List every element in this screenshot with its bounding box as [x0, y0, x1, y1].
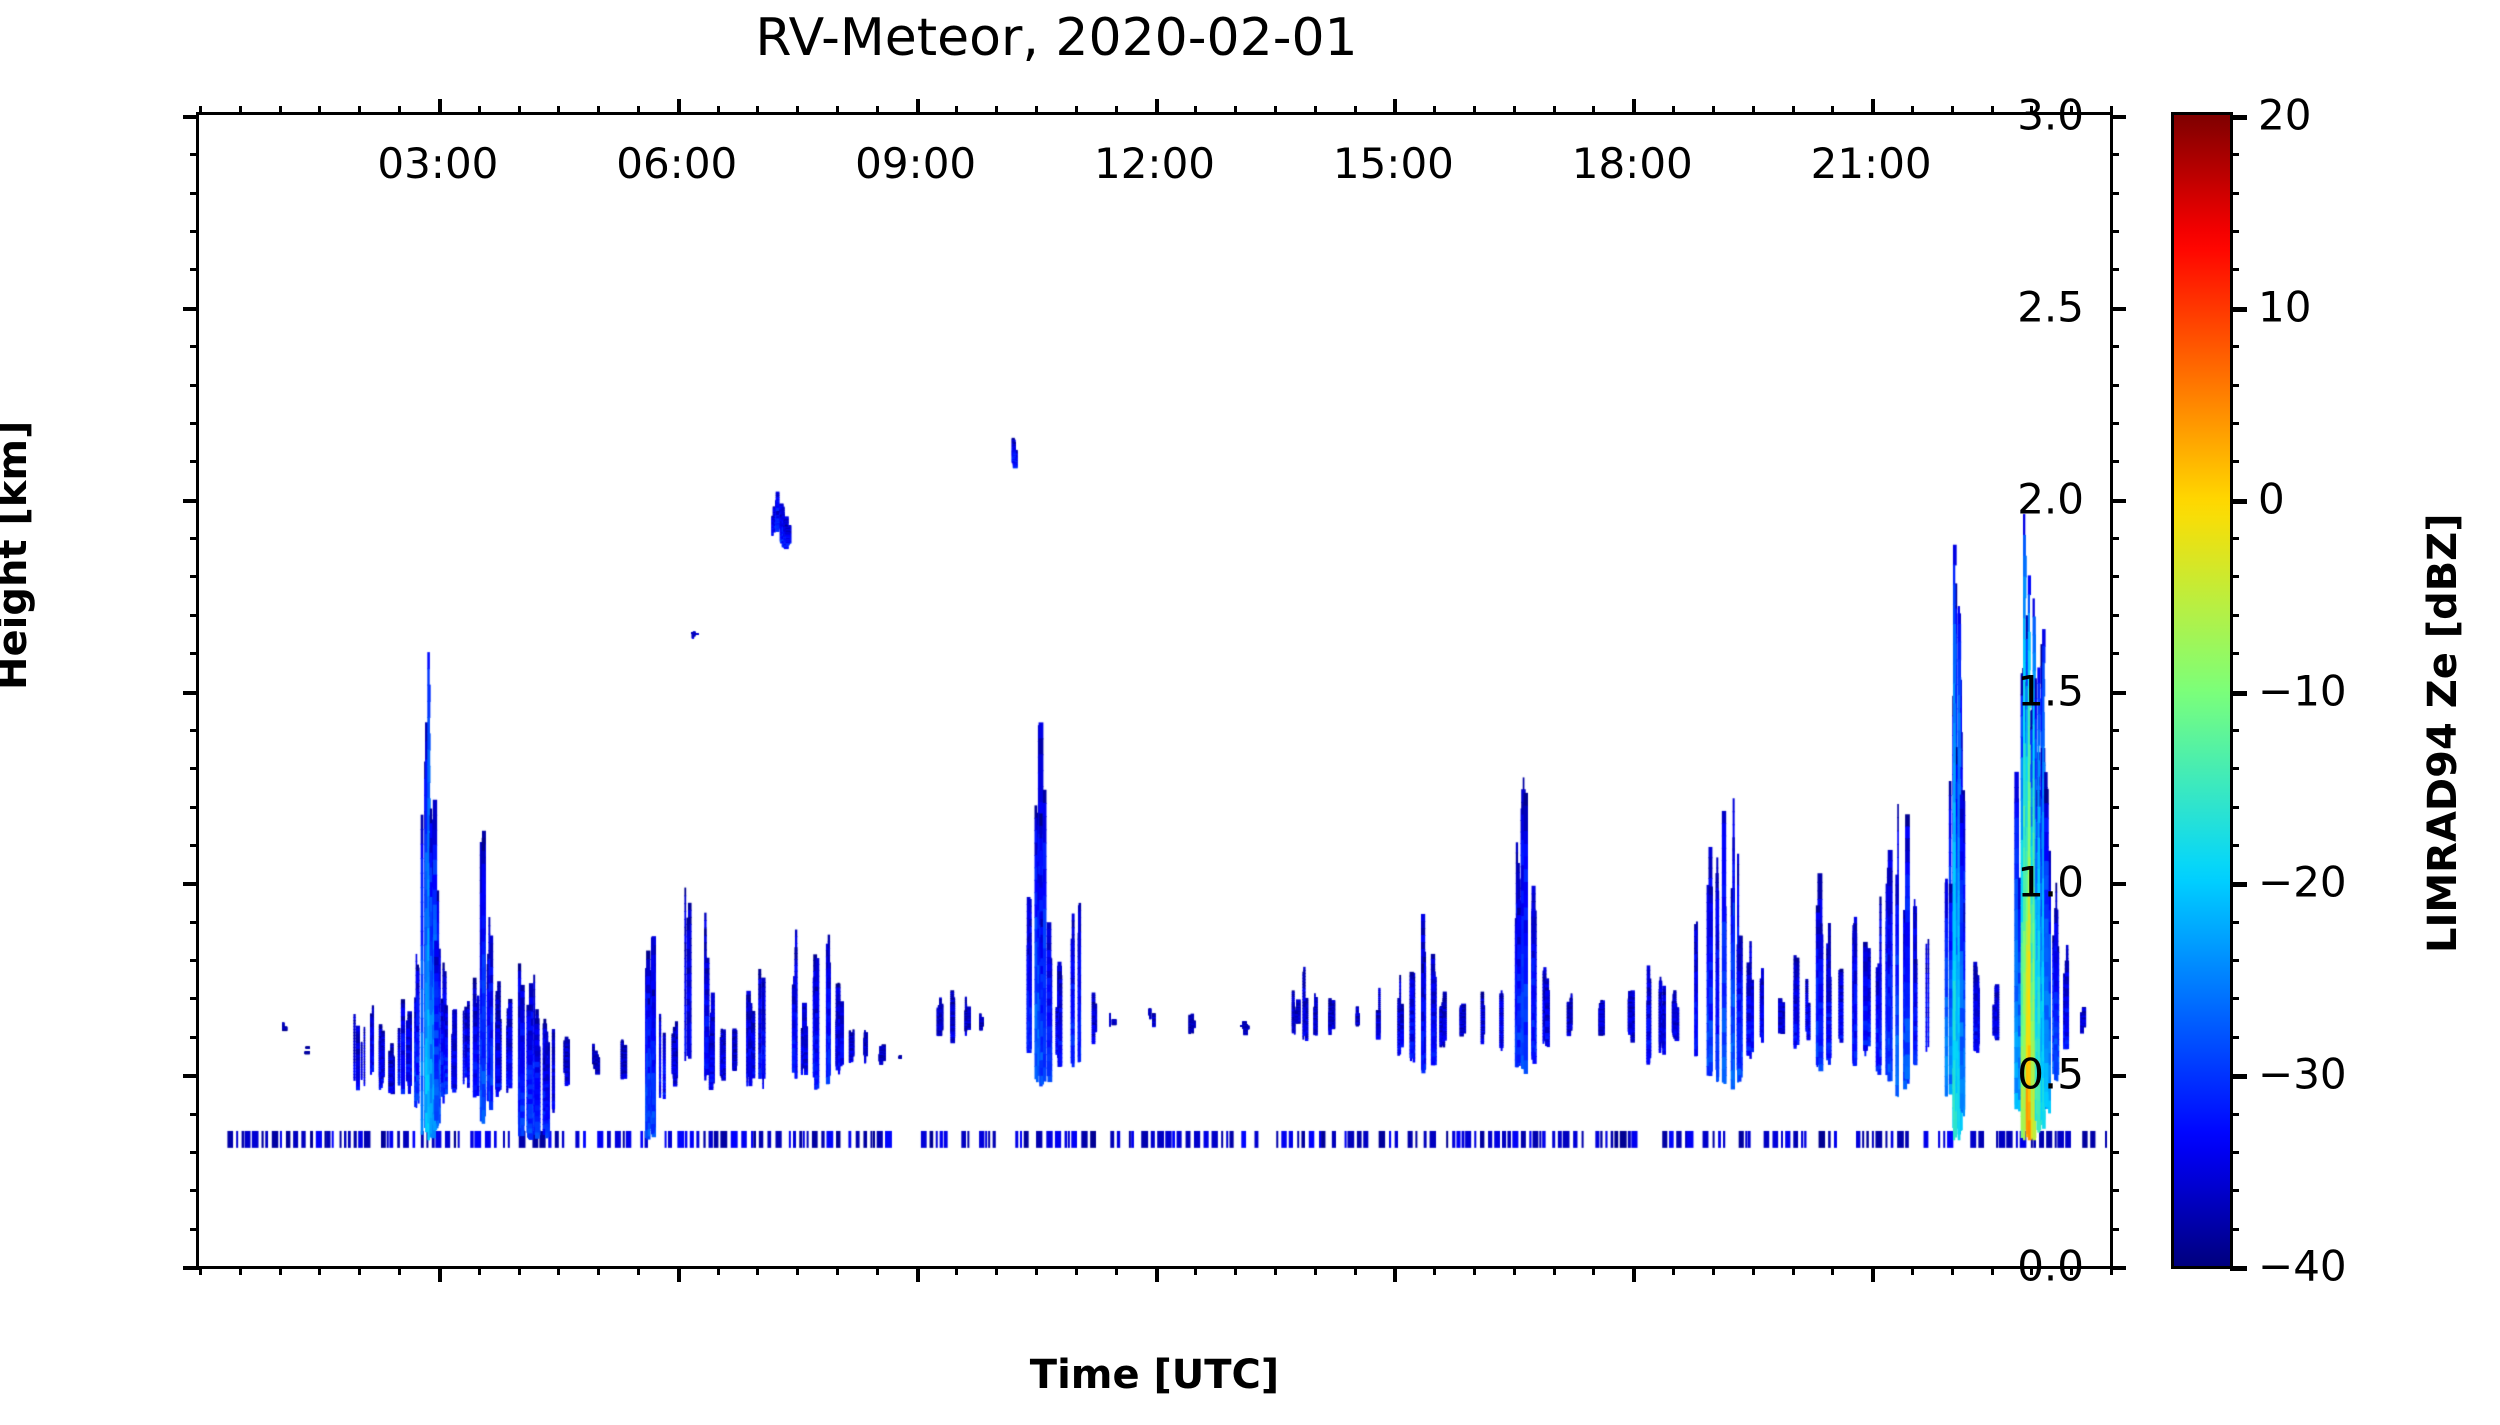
y-minor-tick-right — [2110, 1189, 2119, 1192]
y-minor-tick-right — [2110, 384, 2119, 387]
x-minor-tick — [1752, 1266, 1755, 1275]
x-major-tick-top — [1632, 99, 1636, 115]
x-minor-tick — [717, 1266, 720, 1275]
colorbar-minor-tick — [2230, 1228, 2239, 1231]
y-minor-tick-right — [2110, 614, 2119, 617]
y-minor-tick-right — [2110, 1228, 2119, 1231]
x-minor-tick-top — [557, 106, 560, 115]
reflectivity-heatmap — [199, 115, 2110, 1266]
colorbar-minor-tick — [2230, 192, 2239, 195]
y-major-tick — [183, 882, 199, 886]
colorbar-minor-tick — [2230, 230, 2239, 233]
y-major-tick — [183, 691, 199, 695]
x-major-tick-top — [1871, 99, 1875, 115]
x-minor-tick-top — [1911, 106, 1914, 115]
x-minor-tick-top — [199, 106, 202, 115]
colorbar-major-tick — [2230, 115, 2247, 120]
y-minor-tick-right — [2110, 844, 2119, 847]
colorbar-tick-label: −20 — [2258, 858, 2347, 907]
y-major-tick — [183, 1074, 199, 1078]
y-major-tick — [183, 499, 199, 503]
x-minor-tick-top — [279, 106, 282, 115]
x-tick-label: 06:00 — [616, 139, 737, 188]
colorbar-tick-label: −10 — [2258, 666, 2347, 715]
y-major-tick-right — [2110, 882, 2126, 886]
y-minor-tick — [190, 537, 199, 540]
y-minor-tick-right — [2110, 575, 2119, 578]
x-minor-tick-top — [955, 106, 958, 115]
x-minor-tick-top — [1712, 106, 1715, 115]
colorbar-minor-tick — [2230, 1113, 2239, 1116]
x-minor-tick — [1314, 1266, 1317, 1275]
x-minor-tick-top — [1035, 106, 1038, 115]
x-minor-tick-top — [1792, 106, 1795, 115]
x-minor-tick-top — [637, 106, 640, 115]
plot-axes: 03:0006:0009:0012:0015:0018:0021:000.00.… — [196, 112, 2113, 1269]
colorbar-minor-tick — [2230, 422, 2239, 425]
x-minor-tick — [358, 1266, 361, 1275]
x-minor-tick-top — [518, 106, 521, 115]
y-tick-label: 1.5 — [2017, 666, 2084, 715]
y-major-tick-right — [2110, 691, 2126, 695]
x-minor-tick-top — [1672, 106, 1675, 115]
colorbar-major-tick — [2230, 1266, 2247, 1271]
x-minor-tick-top — [1513, 106, 1516, 115]
x-minor-tick-top — [1314, 106, 1317, 115]
x-minor-tick-top — [1234, 106, 1237, 115]
y-minor-tick-right — [2110, 921, 2119, 924]
y-minor-tick-right — [2110, 153, 2119, 156]
y-major-tick-right — [2110, 307, 2126, 311]
x-minor-tick — [1513, 1266, 1516, 1275]
y-major-tick — [183, 307, 199, 311]
x-major-tick-top — [1393, 99, 1397, 115]
x-major-tick-top — [1155, 99, 1159, 115]
x-tick-label: 21:00 — [1811, 139, 1932, 188]
x-minor-tick-top — [398, 106, 401, 115]
y-minor-tick — [190, 959, 199, 962]
y-minor-tick — [190, 575, 199, 578]
x-minor-tick — [1075, 1266, 1078, 1275]
y-minor-tick-right — [2110, 1113, 2119, 1116]
y-minor-tick-right — [2110, 422, 2119, 425]
y-minor-tick-right — [2110, 345, 2119, 348]
y-minor-tick — [190, 652, 199, 655]
x-minor-tick — [995, 1266, 998, 1275]
colorbar-gradient — [2174, 115, 2230, 1266]
x-major-tick — [1393, 1266, 1397, 1282]
y-minor-tick-right — [2110, 268, 2119, 271]
colorbar-minor-tick — [2230, 614, 2239, 617]
y-minor-tick — [190, 1189, 199, 1192]
y-minor-tick-right — [2110, 806, 2119, 809]
x-minor-tick-top — [1991, 106, 1994, 115]
x-minor-tick-top — [1592, 106, 1595, 115]
colorbar-minor-tick — [2230, 921, 2239, 924]
y-tick-label: 0.5 — [2017, 1050, 2084, 1099]
x-minor-tick — [398, 1266, 401, 1275]
colorbar-minor-tick — [2230, 153, 2239, 156]
y-major-tick — [183, 115, 199, 119]
y-minor-tick — [190, 729, 199, 732]
x-minor-tick — [557, 1266, 560, 1275]
y-minor-tick-right — [2110, 1036, 2119, 1039]
y-major-tick-right — [2110, 1266, 2126, 1270]
colorbar-tick-label: 20 — [2258, 91, 2311, 140]
x-minor-tick-top — [1115, 106, 1118, 115]
x-minor-tick-top — [1354, 106, 1357, 115]
x-tick-label: 12:00 — [1094, 139, 1215, 188]
x-minor-tick — [637, 1266, 640, 1275]
y-minor-tick — [190, 767, 199, 770]
x-minor-tick-top — [1194, 106, 1197, 115]
y-tick-label: 3.0 — [2017, 91, 2084, 140]
y-minor-tick-right — [2110, 729, 2119, 732]
x-major-tick — [916, 1266, 920, 1282]
colorbar-tick-label: −40 — [2258, 1242, 2347, 1291]
y-minor-tick — [190, 384, 199, 387]
y-minor-tick-right — [2110, 1151, 2119, 1154]
colorbar-minor-tick — [2230, 575, 2239, 578]
x-minor-tick-top — [836, 106, 839, 115]
x-minor-tick — [1115, 1266, 1118, 1275]
x-minor-tick-top — [358, 106, 361, 115]
y-minor-tick — [190, 997, 199, 1000]
x-major-tick — [438, 1266, 442, 1282]
x-minor-tick-top — [995, 106, 998, 115]
x-minor-tick-top — [318, 106, 321, 115]
x-minor-tick-top — [756, 106, 759, 115]
y-minor-tick-right — [2110, 230, 2119, 233]
x-major-tick-top — [677, 99, 681, 115]
y-minor-tick — [190, 422, 199, 425]
x-minor-tick-top — [1075, 106, 1078, 115]
colorbar-minor-tick — [2230, 806, 2239, 809]
x-minor-tick — [1592, 1266, 1595, 1275]
y-minor-tick-right — [2110, 997, 2119, 1000]
x-minor-tick-top — [1274, 106, 1277, 115]
x-minor-tick-top — [1473, 106, 1476, 115]
x-minor-tick — [1672, 1266, 1675, 1275]
y-minor-tick — [190, 806, 199, 809]
x-tick-label: 15:00 — [1333, 139, 1454, 188]
y-minor-tick — [190, 1228, 199, 1231]
colorbar-minor-tick — [2230, 997, 2239, 1000]
colorbar-tick-label: 0 — [2258, 474, 2285, 523]
colorbar-minor-tick — [2230, 537, 2239, 540]
x-minor-tick — [318, 1266, 321, 1275]
x-minor-tick — [1991, 1266, 1994, 1275]
y-minor-tick — [190, 1036, 199, 1039]
colorbar-major-tick — [2230, 691, 2247, 696]
x-minor-tick — [1035, 1266, 1038, 1275]
y-minor-tick — [190, 268, 199, 271]
colorbar-major-tick — [2230, 499, 2247, 504]
y-minor-tick-right — [2110, 537, 2119, 540]
colorbar-minor-tick — [2230, 345, 2239, 348]
y-minor-tick-right — [2110, 192, 2119, 195]
x-major-tick — [677, 1266, 681, 1282]
colorbar-minor-tick — [2230, 460, 2239, 463]
x-minor-tick — [478, 1266, 481, 1275]
y-minor-tick-right — [2110, 767, 2119, 770]
x-tick-label: 03:00 — [377, 139, 498, 188]
x-minor-tick — [1354, 1266, 1357, 1275]
x-minor-tick-top — [1951, 106, 1954, 115]
x-minor-tick-top — [1752, 106, 1755, 115]
colorbar-minor-tick — [2230, 729, 2239, 732]
colorbar-minor-tick — [2230, 767, 2239, 770]
colorbar-tick-label: −30 — [2258, 1050, 2347, 1099]
x-minor-tick — [1433, 1266, 1436, 1275]
x-minor-tick-top — [796, 106, 799, 115]
x-minor-tick — [836, 1266, 839, 1275]
y-major-tick-right — [2110, 115, 2126, 119]
figure-canvas: RV-Meteor, 2020-02-01 03:0006:0009:0012:… — [0, 0, 2500, 1425]
x-tick-label: 09:00 — [855, 139, 976, 188]
y-minor-tick — [190, 1151, 199, 1154]
x-minor-tick — [1473, 1266, 1476, 1275]
colorbar-major-tick — [2230, 1074, 2247, 1079]
x-minor-tick-top — [478, 106, 481, 115]
x-minor-tick-top — [1831, 106, 1834, 115]
x-minor-tick — [1951, 1266, 1954, 1275]
y-minor-tick — [190, 614, 199, 617]
x-minor-tick — [1274, 1266, 1277, 1275]
x-minor-tick — [955, 1266, 958, 1275]
chart-title: RV-Meteor, 2020-02-01 — [0, 8, 2113, 68]
y-major-tick-right — [2110, 1074, 2126, 1078]
colorbar-major-tick — [2230, 307, 2247, 312]
x-major-tick-top — [916, 99, 920, 115]
colorbar-minor-tick — [2230, 959, 2239, 962]
y-tick-label: 2.0 — [2017, 474, 2084, 523]
x-minor-tick-top — [876, 106, 879, 115]
x-minor-tick-top — [1553, 106, 1556, 115]
y-minor-tick-right — [2110, 652, 2119, 655]
y-tick-label: 2.5 — [2017, 282, 2084, 331]
x-major-tick — [1871, 1266, 1875, 1282]
x-minor-tick — [239, 1266, 242, 1275]
colorbar-title: LIMRAD94 Ze [dBZ] — [2420, 514, 2466, 953]
colorbar-minor-tick — [2230, 1189, 2239, 1192]
colorbar-major-tick — [2230, 882, 2247, 887]
x-minor-tick-top — [717, 106, 720, 115]
y-minor-tick — [190, 844, 199, 847]
y-minor-tick — [190, 460, 199, 463]
y-tick-label: 1.0 — [2017, 858, 2084, 907]
y-axis-title: Height [km] — [0, 421, 36, 690]
x-minor-tick — [597, 1266, 600, 1275]
x-minor-tick — [1553, 1266, 1556, 1275]
y-minor-tick-right — [2110, 959, 2119, 962]
x-major-tick-top — [438, 99, 442, 115]
x-minor-tick — [199, 1266, 202, 1275]
x-tick-label: 18:00 — [1572, 139, 1693, 188]
colorbar-minor-tick — [2230, 1151, 2239, 1154]
x-minor-tick — [1792, 1266, 1795, 1275]
x-minor-tick-top — [597, 106, 600, 115]
x-minor-tick — [1712, 1266, 1715, 1275]
x-minor-tick-top — [1433, 106, 1436, 115]
colorbar: −40−30−20−1001020 — [2171, 112, 2233, 1269]
x-minor-tick — [876, 1266, 879, 1275]
y-major-tick-right — [2110, 499, 2126, 503]
x-minor-tick — [1194, 1266, 1197, 1275]
y-minor-tick-right — [2110, 460, 2119, 463]
colorbar-tick-label: 10 — [2258, 282, 2311, 331]
x-minor-tick — [1831, 1266, 1834, 1275]
y-minor-tick — [190, 1113, 199, 1116]
x-minor-tick — [1234, 1266, 1237, 1275]
y-tick-label: 0.0 — [2017, 1242, 2084, 1291]
x-minor-tick-top — [239, 106, 242, 115]
x-minor-tick — [1911, 1266, 1914, 1275]
x-minor-tick — [796, 1266, 799, 1275]
x-minor-tick — [279, 1266, 282, 1275]
y-minor-tick — [190, 192, 199, 195]
y-minor-tick — [190, 345, 199, 348]
x-major-tick — [1155, 1266, 1159, 1282]
x-minor-tick — [756, 1266, 759, 1275]
colorbar-minor-tick — [2230, 1036, 2239, 1039]
colorbar-minor-tick — [2230, 844, 2239, 847]
colorbar-minor-tick — [2230, 652, 2239, 655]
x-minor-tick — [518, 1266, 521, 1275]
colorbar-minor-tick — [2230, 384, 2239, 387]
x-minor-tick-top — [2110, 106, 2113, 115]
y-major-tick — [183, 1266, 199, 1270]
y-minor-tick — [190, 921, 199, 924]
colorbar-minor-tick — [2230, 268, 2239, 271]
y-minor-tick — [190, 153, 199, 156]
y-minor-tick — [190, 230, 199, 233]
x-axis-title: Time [UTC] — [196, 1352, 2113, 1398]
x-major-tick — [1632, 1266, 1636, 1282]
